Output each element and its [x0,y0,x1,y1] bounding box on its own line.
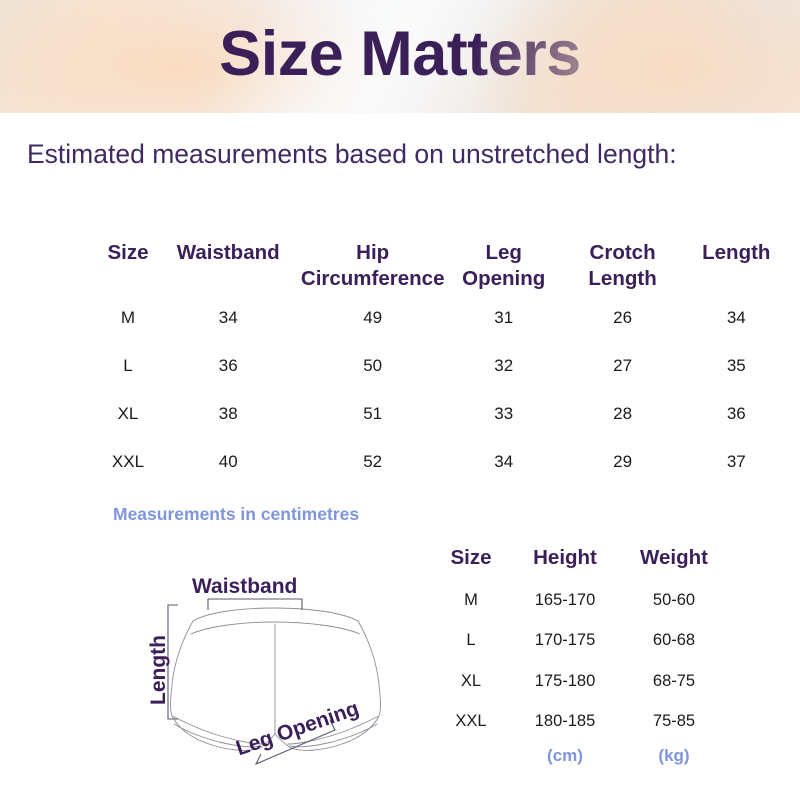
cell-crotch-length: 27 [561,342,685,390]
table-row: XL 175-180 68-75 [432,661,728,702]
cell-weight: 68-75 [620,661,728,702]
size-guide-header-row: Size Height Weight [432,546,728,580]
cell-hip-circumference: 50 [299,342,447,390]
cell-crotch-length: 29 [561,438,685,486]
table-row: L 36 50 32 27 35 [98,342,788,390]
cell-leg-opening: 32 [447,342,561,390]
size-guide-table: Size Height Weight M 165-170 50-60 L 170… [432,546,728,783]
cell-weight: 60-68 [620,621,728,662]
cell-height: 165-170 [510,580,620,621]
header-line-1: Crotch [590,241,656,264]
cell-waistband: 38 [158,390,299,438]
cell-waistband: 40 [158,438,299,486]
subtitle-text: Estimated measurements based on unstretc… [27,136,757,172]
diagram-label-length: Length [147,635,171,705]
column-header-height: Height [510,546,620,580]
diagram-label-waistband: Waistband [192,575,297,599]
column-header-crotch-length: Crotch Length [561,240,685,294]
cell-hip-circumference: 52 [299,438,447,486]
measurement-table: Size Waistband Hip Circumference Leg Ope… [98,240,788,486]
cell-size: L [432,621,510,662]
cell-size: M [98,294,158,342]
cell-size: XXL [432,702,510,743]
cell-length: 34 [685,294,788,342]
size-guide-units-row: (cm) (kg) [432,742,728,783]
cell-leg-opening: 31 [447,294,561,342]
cell-waistband: 36 [158,342,299,390]
table-row: XL 38 51 33 28 36 [98,390,788,438]
unit-note: Measurements in centimetres [113,504,359,525]
cell-size: M [432,580,510,621]
table-row: M 34 49 31 26 34 [98,294,788,342]
table-row: XXL 40 52 34 29 37 [98,438,788,486]
cell-hip-circumference: 51 [299,390,447,438]
cell-weight: 50-60 [620,580,728,621]
table-row: XXL 180-185 75-85 [432,702,728,743]
header-banner: Size Matters [0,0,800,113]
column-header-size: Size [98,240,158,294]
cell-weight: 75-85 [620,702,728,743]
header-line-2: Circumference [299,266,447,292]
column-header-length: Length [685,240,788,294]
cell-leg-opening: 33 [447,390,561,438]
unit-height: (cm) [510,742,620,783]
column-header-weight: Weight [620,546,728,580]
header-line-1: Length [702,241,770,264]
cell-height: 175-180 [510,661,620,702]
unit-weight: (kg) [620,742,728,783]
cell-size: XL [432,661,510,702]
page-title: Size Matters [0,0,800,113]
header-line-1: Hip [356,241,389,264]
header-line-2: Length [561,266,685,292]
cell-size: XXL [98,438,158,486]
cell-crotch-length: 26 [561,294,685,342]
cell-waistband: 34 [158,294,299,342]
shorts-diagram: Waistband Length Leg Opening [130,558,420,780]
header-line-1: Waistband [177,241,280,264]
column-header-hip-circumference: Hip Circumference [299,240,447,294]
cell-length: 36 [685,390,788,438]
header-line-1: Leg [485,241,521,264]
header-line-1: Size [107,241,148,264]
table-row: M 165-170 50-60 [432,580,728,621]
units-spacer [432,742,510,783]
column-header-size: Size [432,546,510,580]
cell-height: 180-185 [510,702,620,743]
cell-size: XL [98,390,158,438]
cell-length: 37 [685,438,788,486]
cell-crotch-length: 28 [561,390,685,438]
table-row: L 170-175 60-68 [432,621,728,662]
column-header-waistband: Waistband [158,240,299,294]
column-header-leg-opening: Leg Opening [447,240,561,294]
cell-size: L [98,342,158,390]
cell-length: 35 [685,342,788,390]
table-header-row: Size Waistband Hip Circumference Leg Ope… [98,240,788,294]
cell-hip-circumference: 49 [299,294,447,342]
header-line-2: Opening [447,266,561,292]
cell-height: 170-175 [510,621,620,662]
cell-leg-opening: 34 [447,438,561,486]
